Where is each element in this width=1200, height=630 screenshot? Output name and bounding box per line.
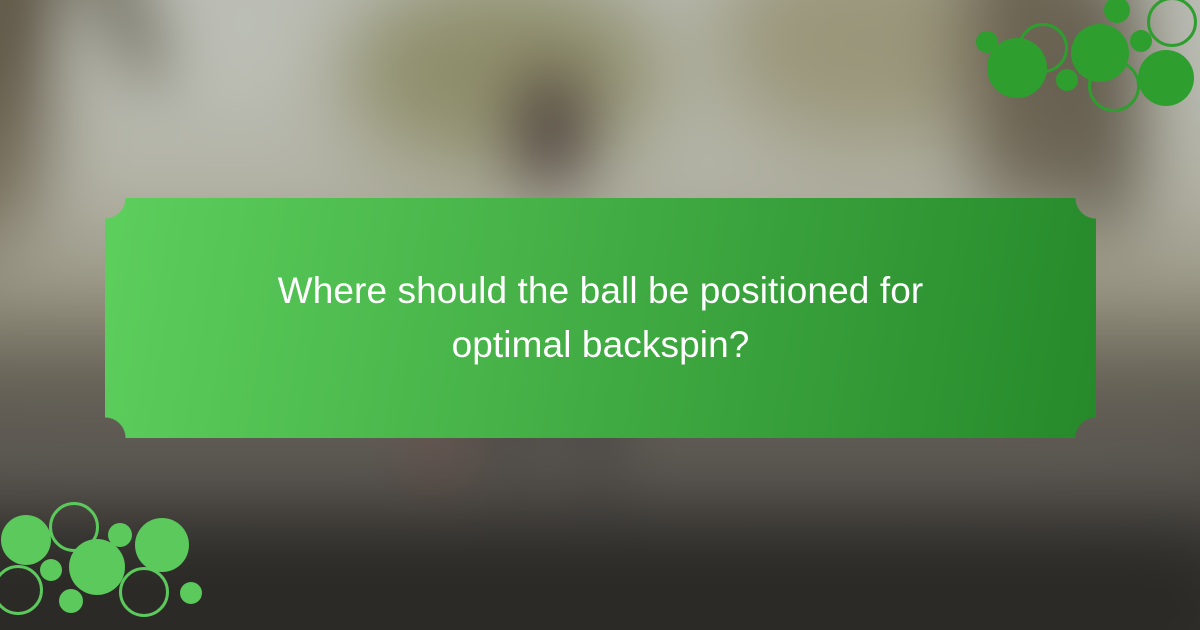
decorative-circle-filled <box>1 515 51 565</box>
decorative-circle-filled <box>40 559 62 581</box>
decorative-circle-filled <box>59 589 83 613</box>
decorative-dots-top-right <box>970 0 1200 130</box>
decorative-circle-filled <box>69 539 125 595</box>
question-text: Where should the ball be positioned for … <box>241 264 961 371</box>
question-banner: Where should the ball be positioned for … <box>105 198 1096 438</box>
decorative-circle-filled <box>1104 0 1130 23</box>
decorative-circle-filled <box>987 38 1047 98</box>
decorative-circle-filled <box>180 582 202 604</box>
decorative-circle-outline <box>0 565 43 615</box>
screenshot-canvas: Where should the ball be positioned for … <box>0 0 1200 630</box>
decorative-circle-filled <box>135 518 189 572</box>
decorative-circle-filled <box>1138 50 1194 106</box>
decorative-circle-filled <box>1056 69 1078 91</box>
decorative-circle-filled <box>1130 30 1152 52</box>
background-person-torso <box>519 72 584 191</box>
decorative-circle-outline <box>119 567 169 617</box>
decorative-circle-outline <box>1147 0 1197 47</box>
decorative-dots-bottom-left <box>0 500 230 630</box>
decorative-circle-outline <box>1088 60 1140 112</box>
